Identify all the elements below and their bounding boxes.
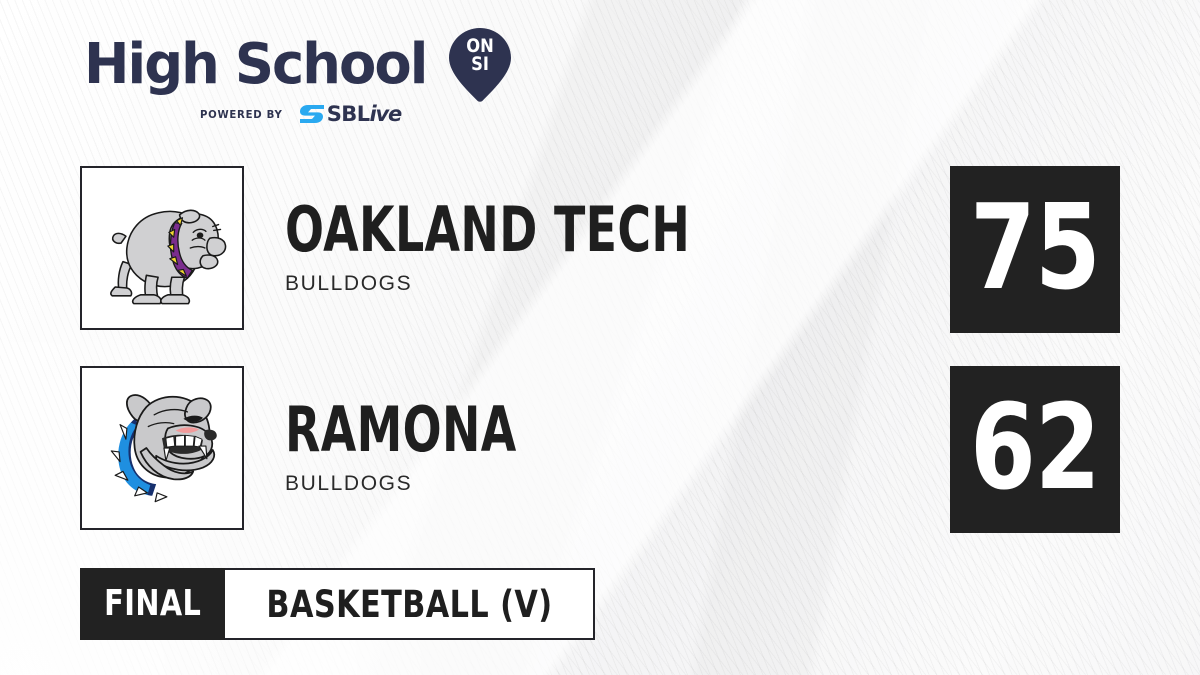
status-badge-label: FINAL bbox=[104, 586, 201, 622]
brand-lockup: High School ON SI POWERED BY SBLive bbox=[84, 34, 514, 125]
on-si-location-pin-icon: ON SI bbox=[449, 28, 511, 102]
sblive-word-main: SBL bbox=[327, 102, 370, 126]
team-row: RAMONA BULLDOGS 62 bbox=[80, 366, 1120, 534]
bulldog-head-logo-icon bbox=[82, 368, 242, 528]
status-badge: FINAL bbox=[80, 568, 225, 640]
sblive-s-mark-icon bbox=[299, 103, 325, 125]
team-mascot: BULLDOGS bbox=[285, 272, 833, 296]
powered-by-label: POWERED BY bbox=[200, 108, 283, 121]
team-name: OAKLAND TECH bbox=[285, 200, 690, 260]
sblive-word-italic: ive bbox=[369, 102, 401, 126]
team-mascot: BULLDOGS bbox=[285, 472, 598, 496]
sport-panel: BASKETBALL (V) bbox=[225, 568, 595, 640]
sblive-wordmark: SBLive bbox=[327, 104, 401, 125]
team-score-box: 62 bbox=[950, 366, 1120, 533]
team-row: OAKLAND TECH BULLDOGS 75 bbox=[80, 166, 1120, 334]
brand-wordmark: High School bbox=[84, 37, 426, 93]
brand-title-row: High School ON SI bbox=[84, 34, 514, 96]
pin-label-si: SI bbox=[453, 55, 506, 74]
team-logo-box bbox=[80, 366, 244, 530]
powered-by-row: POWERED BY SBLive bbox=[200, 103, 514, 125]
sport-label: BASKETBALL (V) bbox=[266, 586, 552, 623]
game-status-bar: FINAL BASKETBALL (V) bbox=[80, 568, 595, 640]
scoreboard-graphic: High School ON SI POWERED BY SBLive bbox=[0, 0, 1200, 675]
team-score: 75 bbox=[967, 166, 1103, 333]
bulldog-standing-logo-icon bbox=[82, 168, 242, 328]
team-score-box: 75 bbox=[950, 166, 1120, 333]
team-name: RAMONA bbox=[285, 400, 517, 460]
team-text-block: RAMONA BULLDOGS bbox=[285, 366, 598, 530]
team-text-block: OAKLAND TECH BULLDOGS bbox=[285, 166, 833, 330]
team-logo-box bbox=[80, 166, 244, 330]
team-score: 62 bbox=[967, 366, 1103, 533]
